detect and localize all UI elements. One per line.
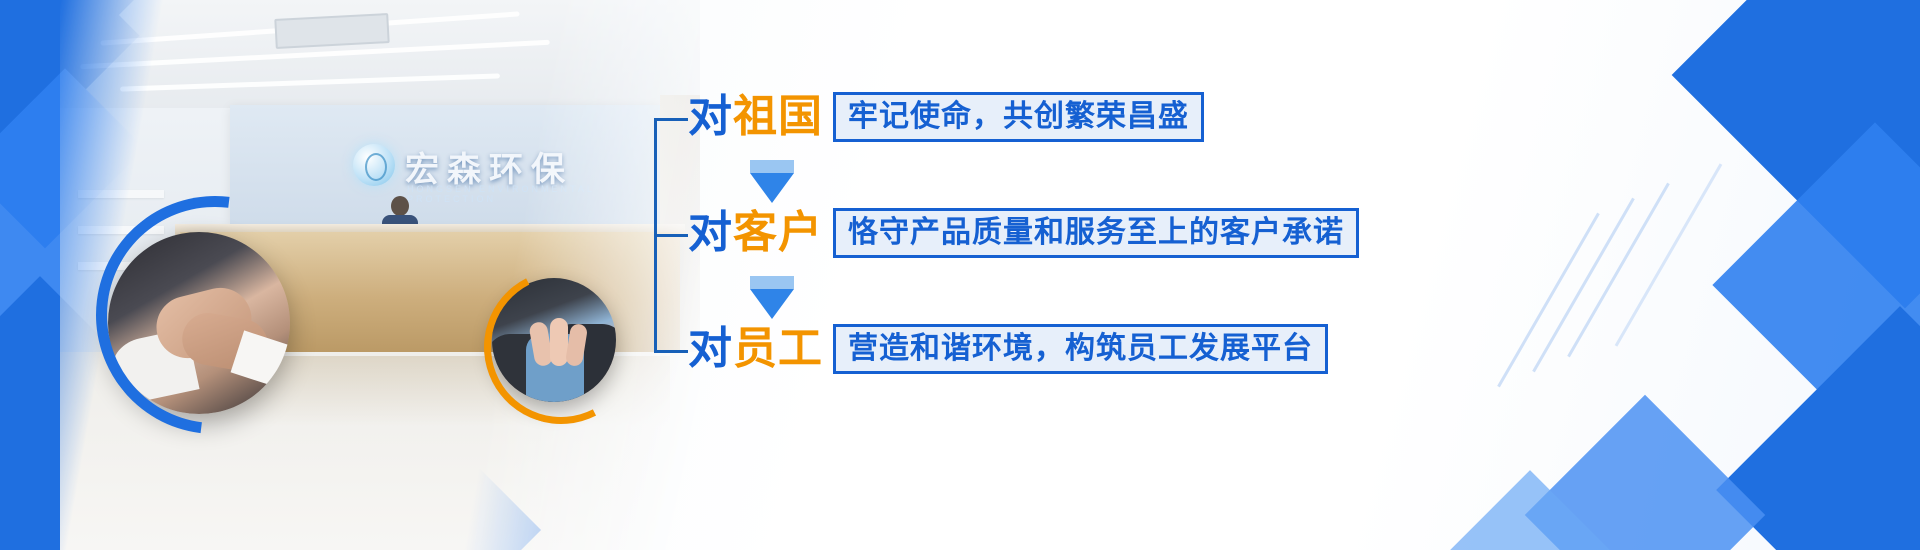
value-statement-employee: 营造和谐环境，构筑员工发展平台	[833, 324, 1328, 375]
decor-diamond-right-2	[1712, 122, 1920, 447]
connector-stem-1	[654, 118, 688, 121]
decor-diamond-right-4	[1525, 395, 1765, 550]
brand-subtitle: HONGSEN ENVIRONMENTAL PROTECTION	[407, 184, 645, 204]
value-statement-customer: 恪守产品质量和服务至上的客户承诺	[833, 208, 1359, 259]
value-row-country: 对祖国 牢记使命，共创繁荣昌盛	[688, 86, 1204, 148]
value-row-employee: 对员工 营造和谐环境，构筑员工发展平台	[688, 318, 1328, 380]
wall-shelf-1	[78, 190, 164, 198]
decor-stripe-3	[1497, 213, 1600, 388]
connector-stem-3	[654, 350, 688, 353]
down-arrow-2-bar	[750, 276, 794, 289]
down-arrow-1-icon	[750, 160, 794, 203]
decor-stripe-4	[1615, 163, 1723, 346]
down-arrow-2-triangle	[750, 289, 794, 319]
decor-diamond-right-1	[1672, 0, 1920, 308]
value-keyword-employee: 员工	[733, 323, 823, 374]
value-prefix-country: 对	[688, 91, 733, 142]
value-heading-country: 对祖国	[688, 95, 823, 139]
decor-diamond-right-5	[1445, 470, 1615, 550]
value-prefix-customer: 对	[688, 207, 733, 258]
down-arrow-1-triangle	[750, 173, 794, 203]
connector-stem-2	[654, 234, 688, 237]
value-prefix-employee: 对	[688, 323, 733, 374]
decor-diamond-right-3	[1716, 306, 1920, 550]
down-arrow-2-icon	[750, 276, 794, 319]
brand-signage: 宏森环保 HONGSEN ENVIRONMENTAL PROTECTION	[345, 138, 645, 200]
receptionist-head	[391, 196, 409, 216]
company-values-banner: 宏森环保 HONGSEN ENVIRONMENTAL PROTECTION	[0, 0, 1920, 550]
down-arrow-1-bar	[750, 160, 794, 173]
value-row-customer: 对客户 恪守产品质量和服务至上的客户承诺	[688, 202, 1359, 264]
decor-stripe-1	[1567, 183, 1670, 358]
value-keyword-customer: 客户	[733, 207, 823, 258]
ceiling-vent	[274, 13, 389, 49]
value-heading-customer: 对客户	[688, 211, 823, 255]
value-statement-country: 牢记使命，共创繁荣昌盛	[833, 92, 1204, 143]
value-heading-employee: 对员工	[688, 327, 823, 371]
globe-logo-icon	[353, 144, 395, 186]
decor-stripe-2	[1532, 198, 1635, 373]
value-keyword-country: 祖国	[733, 91, 823, 142]
